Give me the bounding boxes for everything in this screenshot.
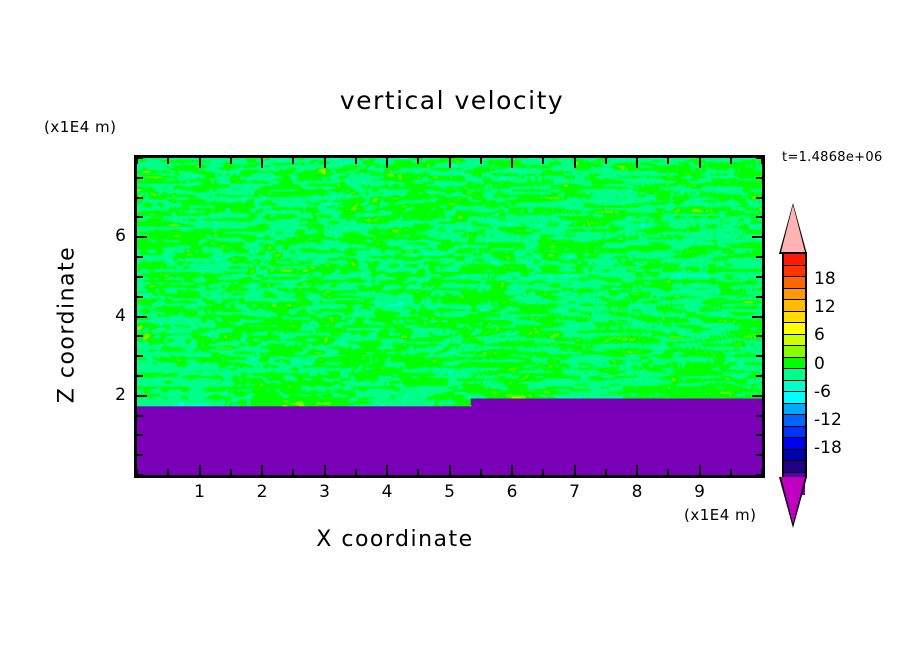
x-tick-label: 1 [180, 482, 220, 502]
y-tick-minor-right [756, 454, 762, 456]
contour-plot-area [134, 155, 765, 478]
x-tick-major-top [199, 158, 201, 168]
colorbar-band [784, 323, 805, 335]
y-tick-minor-right [756, 335, 762, 337]
y-tick-minor [137, 197, 143, 199]
colorbar-band [784, 404, 805, 416]
colorbar-band [784, 277, 805, 289]
y-tick-minor [137, 177, 143, 179]
x-tick-major [699, 465, 701, 475]
x-tick-minor-top [667, 158, 669, 164]
colorbar-band [784, 438, 805, 450]
y-tick-major-right [752, 236, 762, 238]
x-tick-label: 9 [680, 482, 720, 502]
x-tick-major [386, 465, 388, 475]
x-tick-major-top [699, 158, 701, 168]
y-axis-unit-label: (x1E4 m) [44, 118, 117, 136]
x-tick-minor-top [605, 158, 607, 164]
y-tick-major [137, 395, 147, 397]
colorbar-band [784, 392, 805, 404]
y-tick-minor-right [756, 434, 762, 436]
colorbar-over-arrow [781, 205, 805, 252]
x-tick-minor-top [292, 158, 294, 164]
y-tick-minor [137, 375, 143, 377]
y-tick-minor [137, 256, 143, 258]
x-axis-title: X coordinate [0, 527, 790, 552]
colorbar-band [784, 289, 805, 301]
y-tick-minor-right [756, 256, 762, 258]
y-tick-minor [137, 474, 143, 476]
x-tick-minor [230, 469, 232, 475]
x-tick-minor-top [167, 158, 169, 164]
x-tick-minor [730, 469, 732, 475]
colorbar-tick-label: 18 [814, 269, 836, 289]
colorbar-tick-label: -6 [814, 382, 831, 402]
y-tick-minor-right [756, 355, 762, 357]
y-tick-minor-right [756, 177, 762, 179]
x-tick-label: 4 [367, 482, 407, 502]
colorbar [782, 252, 807, 477]
y-tick-major [137, 316, 147, 318]
x-tick-major [449, 465, 451, 475]
y-tick-minor [137, 296, 143, 298]
x-tick-minor [167, 469, 169, 475]
x-tick-major [199, 465, 201, 475]
x-tick-minor [480, 469, 482, 475]
x-tick-minor [667, 469, 669, 475]
y-axis-title: Z coordinate [55, 225, 80, 425]
y-tick-minor-right [756, 157, 762, 159]
colorbar-band [784, 335, 805, 347]
x-tick-minor [355, 469, 357, 475]
y-tick-minor [137, 454, 143, 456]
x-tick-minor [292, 469, 294, 475]
x-tick-major-top [511, 158, 513, 168]
y-tick-major-right [752, 316, 762, 318]
y-tick-label: 2 [92, 385, 126, 405]
colorbar-band [784, 381, 805, 393]
colorbar-band [784, 254, 805, 266]
y-tick-minor-right [756, 474, 762, 476]
y-tick-minor [137, 216, 143, 218]
x-tick-minor-top [480, 158, 482, 164]
x-tick-label: 7 [555, 482, 595, 502]
x-tick-minor [542, 469, 544, 475]
colorbar-band [784, 358, 805, 370]
y-tick-minor-right [756, 296, 762, 298]
x-tick-minor [605, 469, 607, 475]
x-tick-major [636, 465, 638, 475]
colorbar-band [784, 300, 805, 312]
colorbar-band [784, 266, 805, 278]
colorbar-band [784, 369, 805, 381]
colorbar-tick-label: 6 [814, 325, 825, 345]
x-tick-minor-top [417, 158, 419, 164]
y-tick-label: 4 [92, 306, 126, 326]
colorbar-tick-label: 12 [814, 297, 836, 317]
colorbar-band [784, 427, 805, 439]
colorbar-tick-label: -18 [814, 438, 842, 458]
y-tick-major [137, 236, 147, 238]
x-tick-major [261, 465, 263, 475]
y-tick-minor-right [756, 216, 762, 218]
colorbar-band [784, 450, 805, 462]
x-tick-major [574, 465, 576, 475]
y-tick-major-right [752, 395, 762, 397]
x-tick-minor-top [355, 158, 357, 164]
x-tick-label: 6 [492, 482, 532, 502]
colorbar-tick-label: 0 [814, 354, 825, 374]
x-tick-major-top [449, 158, 451, 168]
x-tick-major-top [261, 158, 263, 168]
x-tick-major [511, 465, 513, 475]
x-tick-major-top [386, 158, 388, 168]
x-tick-minor-top [542, 158, 544, 164]
timestamp-annotation: t=1.4868e+06 [782, 150, 883, 165]
y-tick-minor [137, 276, 143, 278]
figure-canvas: vertical velocity (x1E4 m) (x1E4 m) t=1.… [0, 0, 904, 654]
y-tick-minor-right [756, 197, 762, 199]
x-tick-label: 5 [430, 482, 470, 502]
y-tick-minor-right [756, 276, 762, 278]
x-tick-major-top [324, 158, 326, 168]
colorbar-tick-label: -12 [814, 410, 842, 430]
colorbar-band [784, 312, 805, 324]
x-tick-major [324, 465, 326, 475]
x-tick-minor-top [730, 158, 732, 164]
colorbar-band [784, 461, 805, 473]
y-tick-minor [137, 355, 143, 357]
y-tick-minor [137, 434, 143, 436]
colorbar-band [784, 346, 805, 358]
colorbar-under-arrow [781, 477, 805, 524]
x-tick-major-top [574, 158, 576, 168]
x-tick-label: 2 [242, 482, 282, 502]
x-axis-unit-label: (x1E4 m) [684, 506, 757, 524]
x-tick-label: 8 [617, 482, 657, 502]
x-tick-minor [417, 469, 419, 475]
chart-title: vertical velocity [0, 86, 904, 115]
x-tick-label: 3 [305, 482, 345, 502]
x-tick-major-top [636, 158, 638, 168]
y-tick-minor [137, 157, 143, 159]
vertical-velocity-field [137, 158, 762, 475]
y-tick-minor [137, 335, 143, 337]
colorbar-band [784, 415, 805, 427]
y-tick-minor [137, 415, 143, 417]
y-tick-minor-right [756, 415, 762, 417]
x-tick-minor-top [230, 158, 232, 164]
y-tick-minor-right [756, 375, 762, 377]
y-tick-label: 6 [92, 226, 126, 246]
